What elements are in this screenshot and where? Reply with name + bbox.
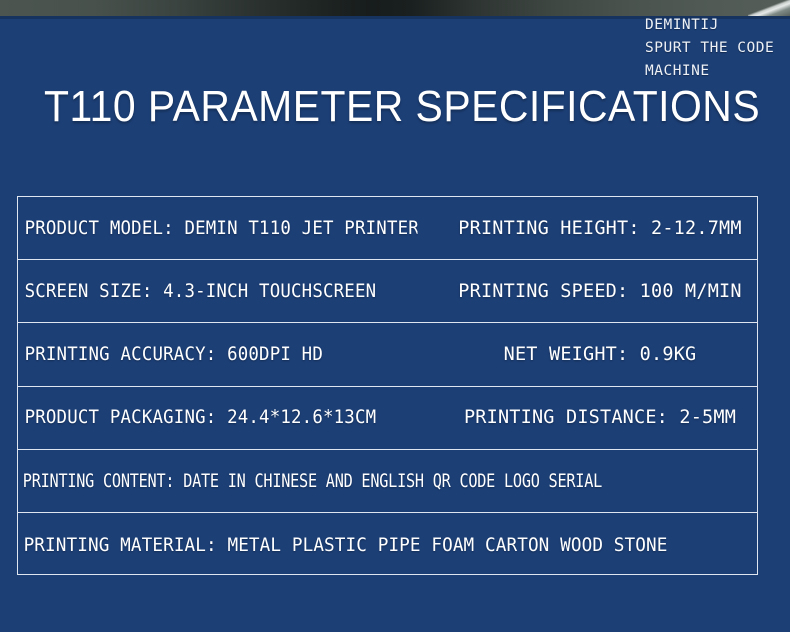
spec-printing-accuracy: PRINTING ACCURACY: 600DPI HD [18,344,418,365]
table-row: PRODUCT MODEL: DEMIN T110 JET PRINTER PR… [18,197,757,260]
spec-net-weight: NET WEIGHT: 0.9KG [443,344,757,365]
brand-line-2: SPURT THE CODE [645,37,774,60]
table-row: PRINTING CONTENT: DATE IN CHINESE AND EN… [18,450,757,513]
spec-printing-distance: PRINTING DISTANCE: 2-5MM [443,407,757,428]
table-row: PRINTING MATERIAL: METAL PLASTIC PIPE FO… [18,513,757,576]
brand-block: DEMINTIJ SPURT THE CODE MACHINE [645,14,774,83]
spec-printing-material: PRINTING MATERIAL: METAL PLASTIC PIPE FO… [18,534,705,556]
spec-printing-speed: PRINTING SPEED: 100 M/MIN [443,281,757,302]
table-row: PRODUCT PACKAGING: 24.4*12.6*13CM PRINTI… [18,387,757,450]
spec-screen-size: SCREEN SIZE: 4.3-INCH TOUCHSCREEN [18,281,418,302]
brand-line-1: DEMINTIJ [645,14,774,37]
spec-product-packaging: PRODUCT PACKAGING: 24.4*12.6*13CM [18,407,418,428]
spec-product-model: PRODUCT MODEL: DEMIN T110 JET PRINTER [18,218,418,239]
spec-sheet-page: DEMINTIJ SPURT THE CODE MACHINE T110 PAR… [0,0,790,632]
table-row: SCREEN SIZE: 4.3-INCH TOUCHSCREEN PRINTI… [18,260,757,323]
spec-printing-height: PRINTING HEIGHT: 2-12.7MM [443,218,757,239]
spec-printing-content: PRINTING CONTENT: DATE IN CHINESE AND EN… [18,470,609,492]
table-row: PRINTING ACCURACY: 600DPI HD NET WEIGHT:… [18,323,757,386]
brand-line-3: MACHINE [645,60,774,83]
specifications-table: PRODUCT MODEL: DEMIN T110 JET PRINTER PR… [17,196,758,575]
page-title: T110 PARAMETER SPECIFICATIONS [44,82,760,132]
